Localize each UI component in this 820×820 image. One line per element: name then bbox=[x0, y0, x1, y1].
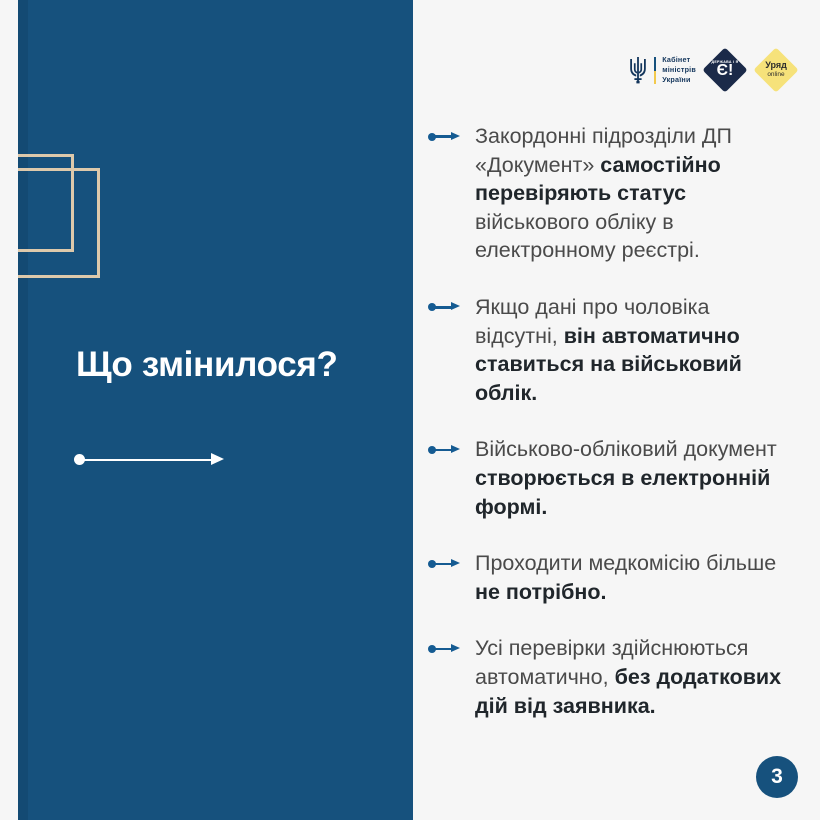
list-item: Усі перевірки здійснюються автоматично, … bbox=[428, 634, 798, 720]
list-item: Проходити медкомісію більше не потрібно. bbox=[428, 549, 798, 606]
tryzub-icon bbox=[628, 55, 648, 85]
kmu-divider bbox=[654, 57, 656, 84]
page-number-badge: 3 bbox=[756, 756, 798, 798]
bullet-line-icon bbox=[434, 306, 452, 308]
logo-diia: ДЕРЖАВА І Я Є! bbox=[703, 48, 747, 92]
uryad-label-line-2: online bbox=[754, 72, 798, 79]
bullet-arrow-icon bbox=[428, 643, 460, 654]
bullet-arrowhead-icon bbox=[451, 559, 460, 567]
diia-mark-label: Є! bbox=[703, 63, 747, 79]
logo-kabinet-ministriv: КабінетміністрівУкраїни bbox=[628, 53, 696, 87]
bullet-text: Військово-обліковий документ створюється… bbox=[475, 435, 798, 521]
slide-root: Що змінилося? Кабінетміністрів bbox=[0, 0, 820, 820]
panel-left-edge-strip bbox=[18, 0, 28, 820]
bullet-line-icon bbox=[434, 563, 452, 565]
bullet-list: Закордонні підрозділи ДП «Документ» само… bbox=[428, 122, 798, 748]
bullet-text: Проходити медкомісію більше не потрібно. bbox=[475, 549, 798, 606]
bullet-arrow-icon bbox=[428, 444, 460, 455]
bullet-text: Закордонні підрозділи ДП «Документ» само… bbox=[475, 122, 798, 265]
kmu-line-2: міністрів bbox=[662, 65, 696, 74]
kmu-line-3: України bbox=[662, 75, 690, 84]
kmu-line-1: Кабінет bbox=[662, 55, 690, 64]
bullet-text: Якщо дані про чоловіка відсутні, він авт… bbox=[475, 293, 798, 407]
arrow-head-icon bbox=[211, 453, 224, 465]
uryad-diamond-shape bbox=[753, 47, 798, 92]
logo-uryad-online: Уряд online bbox=[754, 48, 798, 92]
bullet-line-icon bbox=[434, 648, 452, 650]
left-title-panel: Що змінилося? bbox=[18, 0, 413, 820]
bullet-line-icon bbox=[434, 449, 452, 451]
page-title: Що змінилося? bbox=[76, 345, 406, 385]
kmu-label: КабінетміністрівУкраїни bbox=[662, 55, 696, 84]
list-item: Закордонні підрозділи ДП «Документ» само… bbox=[428, 122, 798, 265]
bullet-arrow-icon bbox=[428, 131, 460, 142]
decorative-squares bbox=[18, 140, 158, 280]
bullet-arrow-icon bbox=[428, 302, 460, 313]
list-item: Якщо дані про чоловіка відсутні, він авт… bbox=[428, 293, 798, 407]
uryad-label-line-1: Уряд bbox=[754, 61, 798, 70]
title-arrow-rule bbox=[74, 450, 226, 470]
bullet-line-icon bbox=[434, 135, 452, 137]
arrow-line-icon bbox=[83, 459, 216, 462]
bullet-arrow-icon bbox=[428, 558, 460, 569]
bullet-arrowhead-icon bbox=[451, 302, 460, 310]
bullet-arrowhead-icon bbox=[451, 445, 460, 453]
logo-bar: КабінетміністрівУкраїни ДЕРЖАВА І Я Є! У… bbox=[628, 48, 798, 92]
bullet-arrowhead-icon bbox=[451, 644, 460, 652]
bullet-text: Усі перевірки здійснюються автоматично, … bbox=[475, 634, 798, 720]
bullet-arrowhead-icon bbox=[451, 132, 460, 140]
list-item: Військово-обліковий документ створюється… bbox=[428, 435, 798, 521]
decorative-square-lower bbox=[18, 168, 100, 278]
